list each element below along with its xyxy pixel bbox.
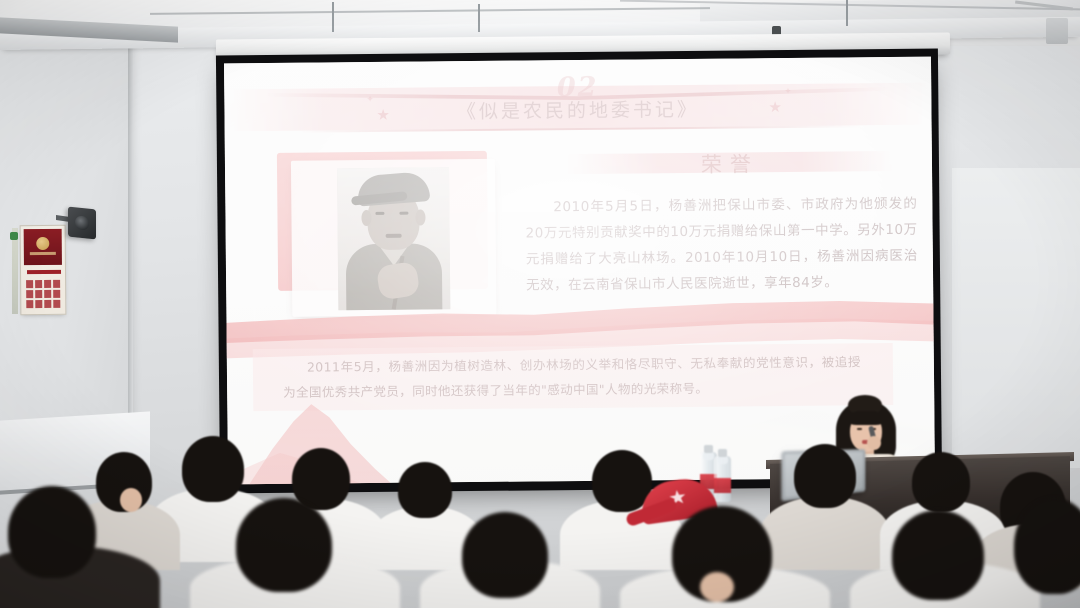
slide-footer-text: 2011年5月，杨善洲因为植树造林、创办林场的义举和恪尽职守、无私奉献的党性意识… [283, 349, 861, 405]
audience-member-head [236, 498, 332, 592]
bottle-neck [717, 456, 728, 464]
speaker-cone-icon [75, 215, 89, 230]
screen-hanger-wire [332, 2, 334, 32]
audience-member-head [794, 444, 856, 508]
honor-heading-group: 荣誉 [565, 143, 895, 180]
star-icon-left: ★ [376, 106, 390, 124]
portrait-ear-left [361, 210, 371, 226]
lecture-hall-scene: 02 《似是农民的地委书记》 ★ ✦ ★ ✦ [0, 0, 1080, 608]
audience-member-head [892, 510, 984, 600]
bottle-label [714, 478, 731, 493]
slide-body-text: 2010年5月5日，杨善洲把保山市委、市政府为他颁发的20万元特别贡献奖中的10… [525, 191, 918, 299]
junction-box [1046, 18, 1068, 44]
whiteboard-right [952, 168, 1080, 468]
audience-member-head [398, 462, 452, 518]
wall-corner-edge [128, 0, 133, 470]
portrait-eye-left [375, 212, 384, 215]
poster-strip [12, 228, 18, 314]
presenter-eye-left [857, 428, 862, 430]
audience-member-head [912, 452, 970, 512]
presenter-hand [867, 436, 881, 450]
screen-hanger-wire [846, 0, 848, 26]
audience-member-head [1014, 498, 1080, 594]
audience-member-ear [700, 572, 734, 602]
star-icon-right: ★ [768, 98, 782, 116]
poster-title-bar [27, 270, 61, 274]
poster-value-grid [26, 280, 60, 308]
portrait-mouth [386, 234, 402, 238]
core-values-poster [20, 225, 67, 315]
honor-heading: 荣誉 [565, 147, 895, 180]
cap-logo-icon [669, 489, 687, 505]
presenter-fringe [848, 411, 884, 425]
audience-member-head [182, 436, 244, 502]
bottle-neck [703, 452, 714, 460]
wall-speaker [68, 207, 96, 240]
portrait-photo [337, 167, 450, 310]
bottle-cap [718, 449, 727, 457]
audience-member-head [8, 486, 96, 578]
screen-hanger-wire [478, 4, 480, 32]
poster-subtitle-bar [30, 252, 56, 255]
portrait-ear-right [415, 209, 425, 225]
poster-header [24, 229, 62, 265]
audience-member-face [120, 488, 142, 512]
green-marker [10, 232, 18, 240]
audience-member-head [462, 512, 548, 598]
portrait-eye-right [399, 212, 408, 215]
emblem-icon [36, 237, 49, 250]
bottle-cap [704, 445, 713, 453]
water-bottle-right[interactable] [714, 456, 731, 502]
